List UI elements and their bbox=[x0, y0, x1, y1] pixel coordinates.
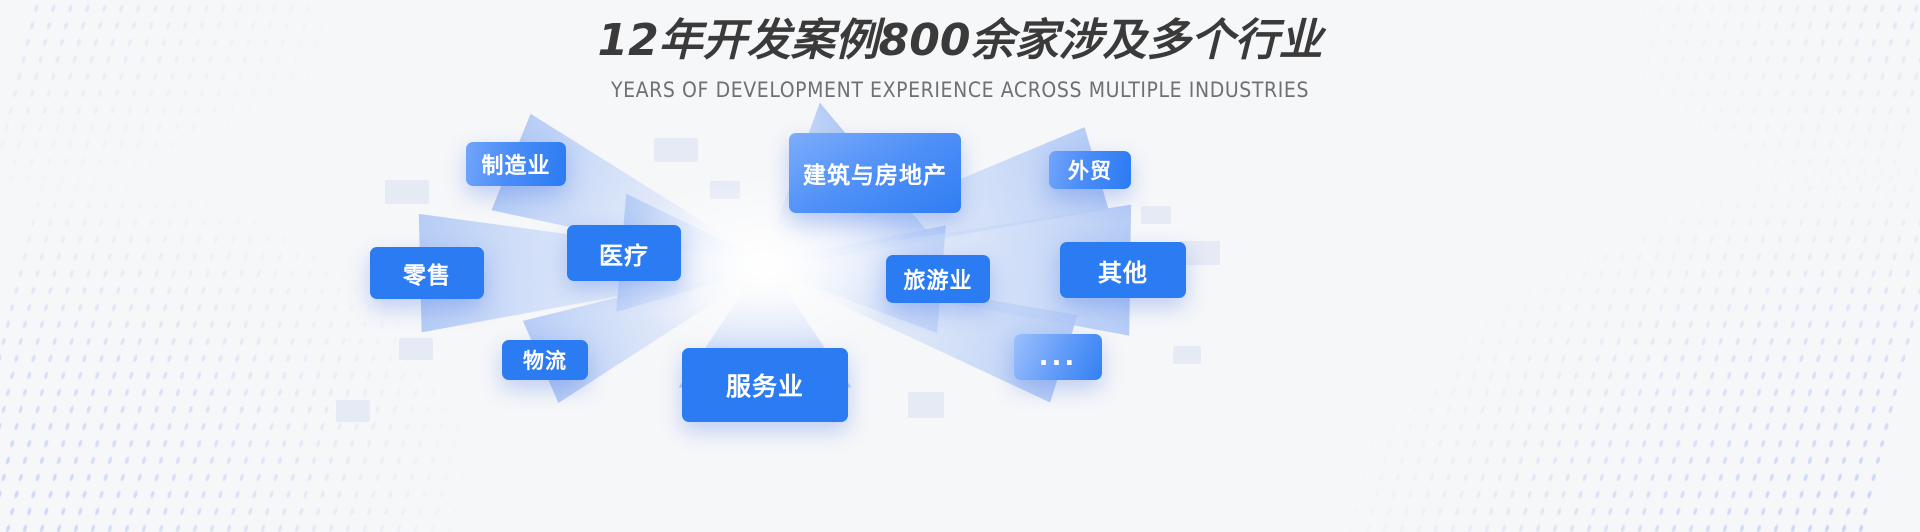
industry-tag[interactable]: 零售 bbox=[370, 247, 484, 299]
industry-tag-label: 旅游业 bbox=[903, 263, 972, 295]
header-block: 12年开发案例800余家涉及多个行业 YEARS OF DEVELOPMENT … bbox=[0, 14, 1920, 102]
industry-tag[interactable]: 外贸 bbox=[1049, 151, 1131, 189]
industry-tag-label: 医疗 bbox=[599, 236, 649, 271]
decorative-chip bbox=[710, 181, 740, 199]
decorative-chip bbox=[1141, 206, 1171, 224]
decorative-chip bbox=[399, 338, 433, 360]
industry-tag-label: 制造业 bbox=[481, 148, 550, 180]
decorative-chip bbox=[336, 400, 370, 422]
decorative-chip bbox=[908, 392, 944, 418]
industry-tag-label: 建筑与房地产 bbox=[803, 156, 947, 190]
industry-tag[interactable]: 物流 bbox=[502, 340, 588, 380]
industry-tag-label: 物流 bbox=[523, 345, 567, 375]
background-dot-texture-bottom-right bbox=[1308, 112, 1920, 532]
decorative-chip bbox=[1173, 346, 1201, 364]
industry-tag[interactable]: 建筑与房地产 bbox=[789, 133, 961, 213]
decorative-chip bbox=[385, 180, 429, 204]
industry-tag-label: 外贸 bbox=[1068, 155, 1112, 185]
page-subtitle: YEARS OF DEVELOPMENT EXPERIENCE ACROSS M… bbox=[0, 78, 1920, 102]
page-title: 12年开发案例800余家涉及多个行业 bbox=[0, 14, 1920, 69]
decorative-chip bbox=[654, 138, 698, 162]
industry-tag-label: 其他 bbox=[1098, 253, 1148, 288]
industry-tag[interactable]: ... bbox=[1014, 334, 1102, 380]
industry-tag-label: 零售 bbox=[403, 256, 451, 290]
industry-tag-label: ... bbox=[1039, 342, 1078, 372]
industry-tag-label: 服务业 bbox=[726, 367, 804, 403]
industry-tag[interactable]: 其他 bbox=[1060, 242, 1186, 298]
industry-tag[interactable]: 制造业 bbox=[466, 142, 566, 186]
industry-tag[interactable]: 服务业 bbox=[682, 348, 848, 422]
industry-tag[interactable]: 医疗 bbox=[567, 225, 681, 281]
industry-tag[interactable]: 旅游业 bbox=[886, 255, 990, 303]
